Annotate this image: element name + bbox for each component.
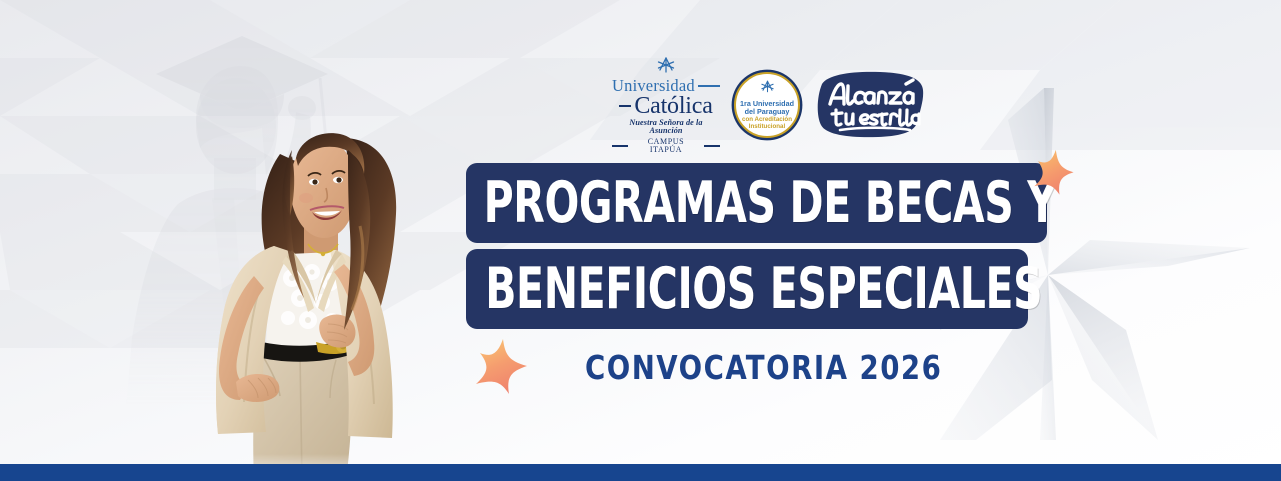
accreditation-badge: 1ra Universidad del Paraguay con Acredit…	[734, 72, 800, 138]
promo-banner: Universidad Católica Nuestra Señora de l…	[0, 0, 1281, 481]
four-point-star-icon	[1025, 148, 1081, 204]
star-icon	[612, 57, 720, 77]
slogan-logo	[814, 70, 926, 140]
university-logo-line2: Católica	[612, 94, 720, 118]
headline-line1-text: PROGRAMAS DE BECAS Y	[466, 175, 1057, 232]
badge-line4: Institucional	[749, 124, 785, 131]
headline-box-line2: BENEFICIOS ESPECIALES	[466, 249, 1028, 329]
logo-rule	[612, 145, 628, 146]
university-campus-line: CAMPUS ITAPÚA	[612, 138, 720, 154]
logo-rule	[698, 85, 720, 87]
headline-line2-text: BENEFICIOS ESPECIALES	[466, 261, 1042, 318]
headline-box-line1: PROGRAMAS DE BECAS Y	[466, 163, 1047, 243]
logo-rule	[704, 145, 720, 146]
hero-person-image	[196, 96, 464, 481]
badge-line2: del Paraguay	[745, 108, 790, 116]
university-logo: Universidad Católica Nuestra Señora de l…	[612, 57, 720, 154]
bottom-color-bar	[0, 464, 1281, 481]
logo-rule	[619, 105, 631, 107]
university-catolica-text: Católica	[634, 94, 712, 118]
four-point-star-icon	[467, 336, 533, 402]
star-icon	[760, 80, 775, 98]
logo-row: Universidad Católica Nuestra Señora de l…	[612, 57, 926, 154]
subtitle-convocatoria: CONVOCATORIA 2026	[585, 348, 942, 387]
university-patron-text: Nuestra Señora de la Asunción	[612, 119, 720, 135]
university-campus-text: CAMPUS ITAPÚA	[632, 138, 700, 154]
